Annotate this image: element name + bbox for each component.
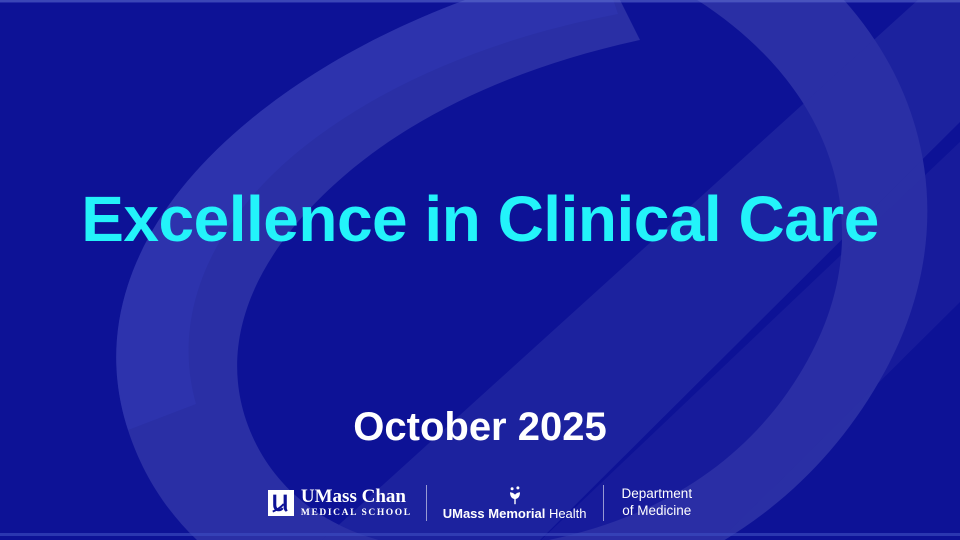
umass-memorial-tulip-icon	[507, 486, 523, 505]
umass-memorial-name-bold: UMass Memorial	[443, 506, 546, 521]
slide-date-subtitle: October 2025	[0, 405, 960, 449]
umass-chan-u-monogram-icon	[268, 490, 294, 516]
umass-chan-subtitle: MEDICAL SCHOOL	[301, 509, 412, 519]
umass-chan-wordmark: UMass Chan MEDICAL SCHOOL	[301, 487, 412, 518]
umass-chan-logo: UMass Chan MEDICAL SCHOOL	[268, 483, 426, 523]
umass-chan-name: UMass Chan	[301, 487, 412, 507]
department-of-medicine-logo: Department of Medicine	[604, 483, 693, 523]
slide-bottom-edge-line	[0, 533, 960, 536]
umass-memorial-name-light: Health	[545, 506, 586, 521]
background-swoosh-artwork	[0, 0, 960, 540]
subtitle-block: October 2025	[0, 405, 960, 449]
department-line-2: of Medicine	[622, 503, 691, 520]
presentation-slide: Excellence in Clinical Care October 2025…	[0, 0, 960, 540]
title-block: Excellence in Clinical Care	[0, 186, 960, 253]
slide-top-edge-line	[0, 0, 960, 2]
umass-memorial-wordmark: UMass Memorial Health	[443, 507, 587, 520]
umass-memorial-health-logo: UMass Memorial Health	[427, 483, 603, 523]
department-line-1: Department	[622, 486, 693, 503]
slide-title: Excellence in Clinical Care	[0, 186, 960, 253]
logo-bar: UMass Chan MEDICAL SCHOOL UMass Memorial…	[0, 481, 960, 525]
